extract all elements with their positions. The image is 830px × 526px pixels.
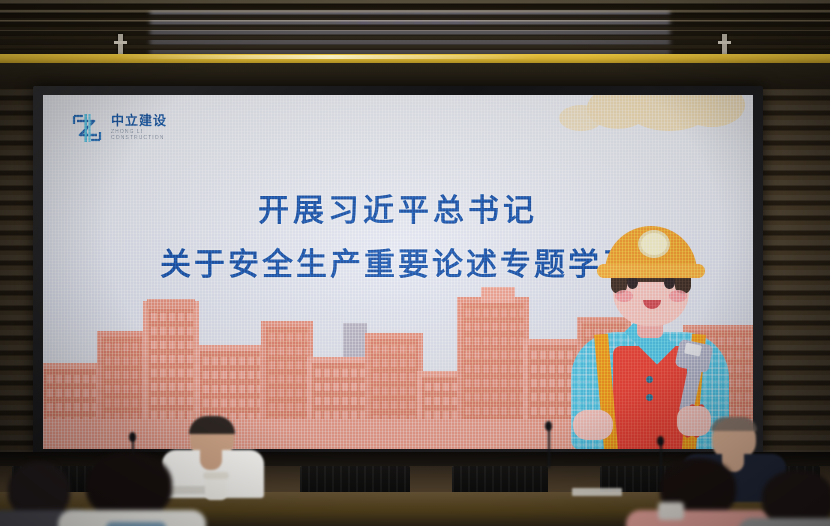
audience-center-head [86,452,172,518]
ceiling-slat-overlay [0,0,830,62]
screenshot-root: 开展习近平总书记 [0,0,830,526]
worker-button-2 [646,394,653,401]
speaker-left-hair [189,416,235,434]
paper-center [572,488,622,496]
logo-company-cn: 中立建设 [111,115,167,128]
worker-helmet-brim [597,264,705,278]
audience-front-right-gray [752,470,830,526]
zhongli-z-mark-icon [70,111,104,145]
logo-company-en-2: CONSTRUCTION [111,136,167,141]
microphone-head-center [545,421,552,431]
worker-cheek-right [669,290,687,302]
mount-bracket-right [722,34,727,54]
microphone-stem-center [548,428,550,468]
building-9-cap [481,287,515,303]
worker-cheek-left [615,290,633,302]
speaker-right-hair [711,417,757,431]
cloud-shape-4 [559,105,603,131]
worker-hand-left [573,410,613,440]
microphone-head-right [657,436,664,446]
audience-front-center [64,452,194,526]
construction-worker-mascot [565,214,735,449]
mount-bracket-left [118,34,123,54]
audience-front-right-pink [636,458,760,526]
microphone-head-left [129,432,136,442]
gold-band-sheen [120,55,540,59]
worker-button-1 [646,376,653,383]
teacup-left-lid [203,472,229,479]
company-logo: 中立建设 ZHONG LI CONSTRUCTION [70,111,167,145]
led-screen-bezel: 中立建设 ZHONG LI CONSTRUCTION 开展习近平总书记 关于安全… [33,86,763,458]
ceiling-panel: 开展习近平总书记 [0,0,830,62]
audience-gray-shirt [738,518,830,526]
led-screen: 中立建设 ZHONG LI CONSTRUCTION 开展习近平总书记 关于安全… [43,95,753,449]
teacup-left [205,476,227,500]
logo-text-block: 中立建设 ZHONG LI CONSTRUCTION [111,115,167,141]
building-3-cap [147,299,195,309]
worker-helmet-lamp [638,230,670,258]
speaker-left-neck [200,448,222,470]
audience-center-shirt-detail [106,522,166,526]
audience-pink-mask [658,502,684,520]
